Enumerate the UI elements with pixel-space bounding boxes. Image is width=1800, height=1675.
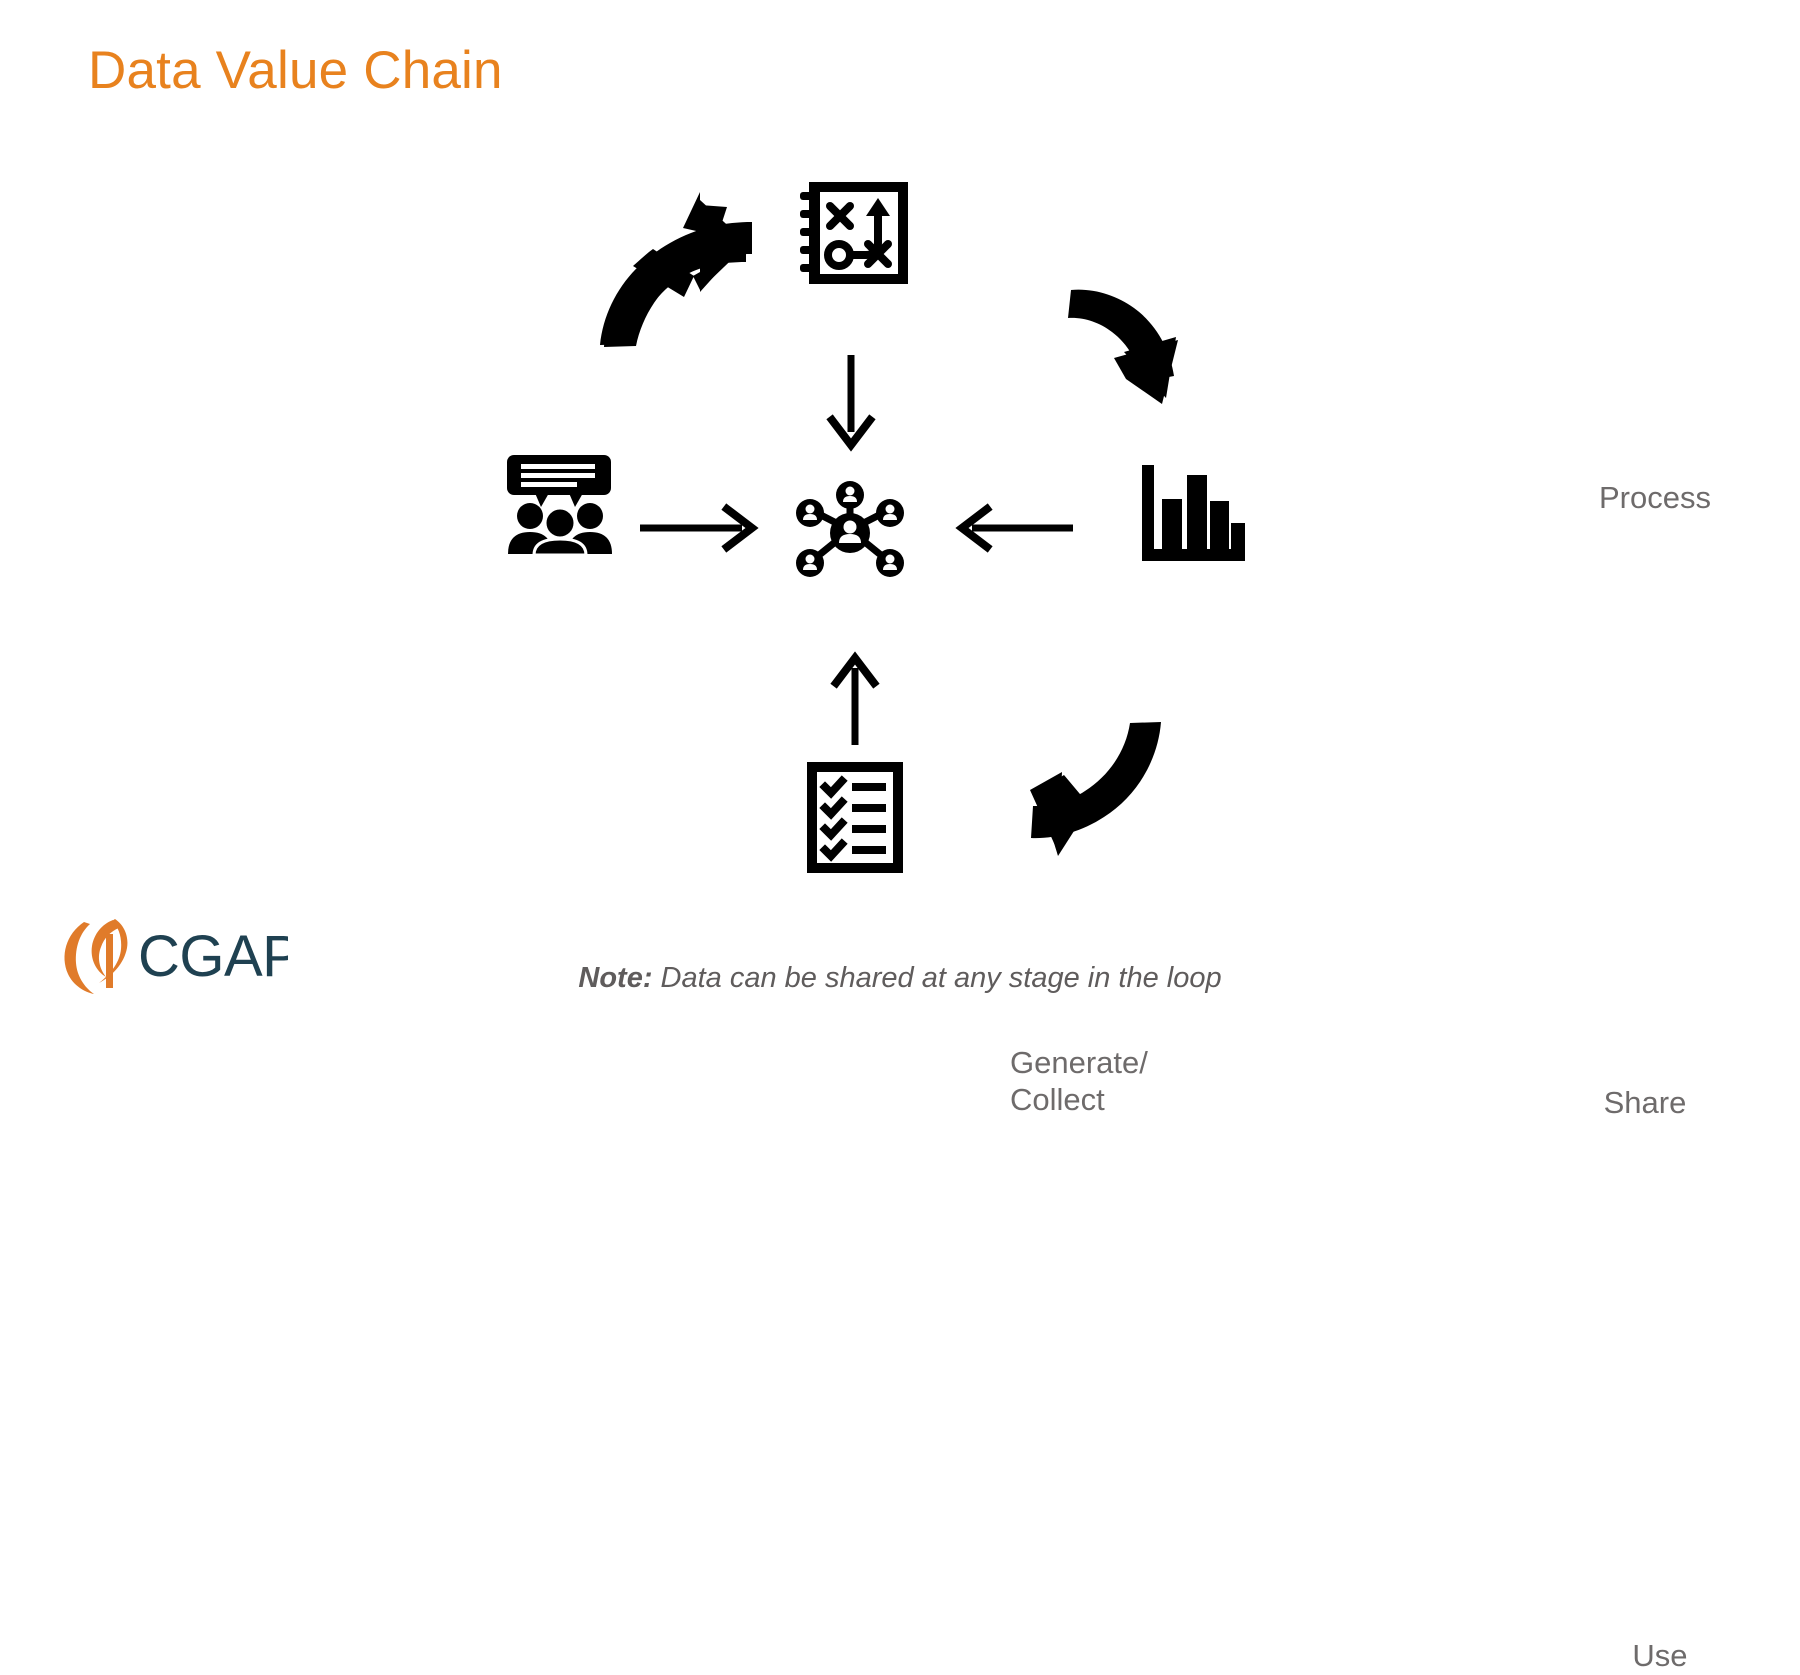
cgap-logo-mark xyxy=(65,919,128,994)
cgap-wordmark: CGAP xyxy=(138,924,288,989)
straight-arrow-generate-to-share xyxy=(640,509,752,547)
diagram-node-share[interactable]: Share xyxy=(795,480,905,580)
diagram-node-analyze[interactable]: Analyze xyxy=(1140,465,1245,565)
strategy-playbook-icon xyxy=(800,180,910,290)
footer-note-text: Data can be shared at any stage in the l… xyxy=(652,962,1221,994)
curved-arrow-generate-to-process xyxy=(600,210,746,345)
focus-group-icon xyxy=(505,455,615,555)
diagram-node-use[interactable]: Use xyxy=(805,760,905,875)
straight-arrow-use-to-share xyxy=(836,658,874,745)
curved-arrow-head-generate-to-process xyxy=(700,205,727,290)
curved-arrow-analyze-to-use xyxy=(1030,722,1161,856)
diagram-node-label-share: Share xyxy=(1585,1085,1705,1122)
diagram-node-generate-collect[interactable]: Generate/ Collect xyxy=(505,455,615,555)
cgap-logo: CGAP xyxy=(58,916,288,998)
diagram-node-label-process: Process xyxy=(1560,480,1750,517)
diagram-node-label-use: Use xyxy=(1610,1638,1710,1675)
network-share-icon xyxy=(795,480,905,580)
checklist-icon xyxy=(805,760,905,875)
curved-arrow-generate-to-process-body xyxy=(604,192,752,347)
straight-arrow-analyze-to-share xyxy=(962,509,1073,547)
diagram-node-process[interactable]: Process xyxy=(800,180,910,290)
curved-arrow-process-to-analyze xyxy=(1068,290,1178,404)
bar-chart-icon xyxy=(1140,465,1245,565)
footer-note-prefix: Note: xyxy=(578,962,652,994)
data-value-chain-diagram: Process Generate/ Collect xyxy=(0,0,1800,1013)
diagram-node-label-generate-collect: Generate/ Collect xyxy=(1010,1045,1270,1118)
straight-arrow-process-to-share xyxy=(832,355,870,445)
